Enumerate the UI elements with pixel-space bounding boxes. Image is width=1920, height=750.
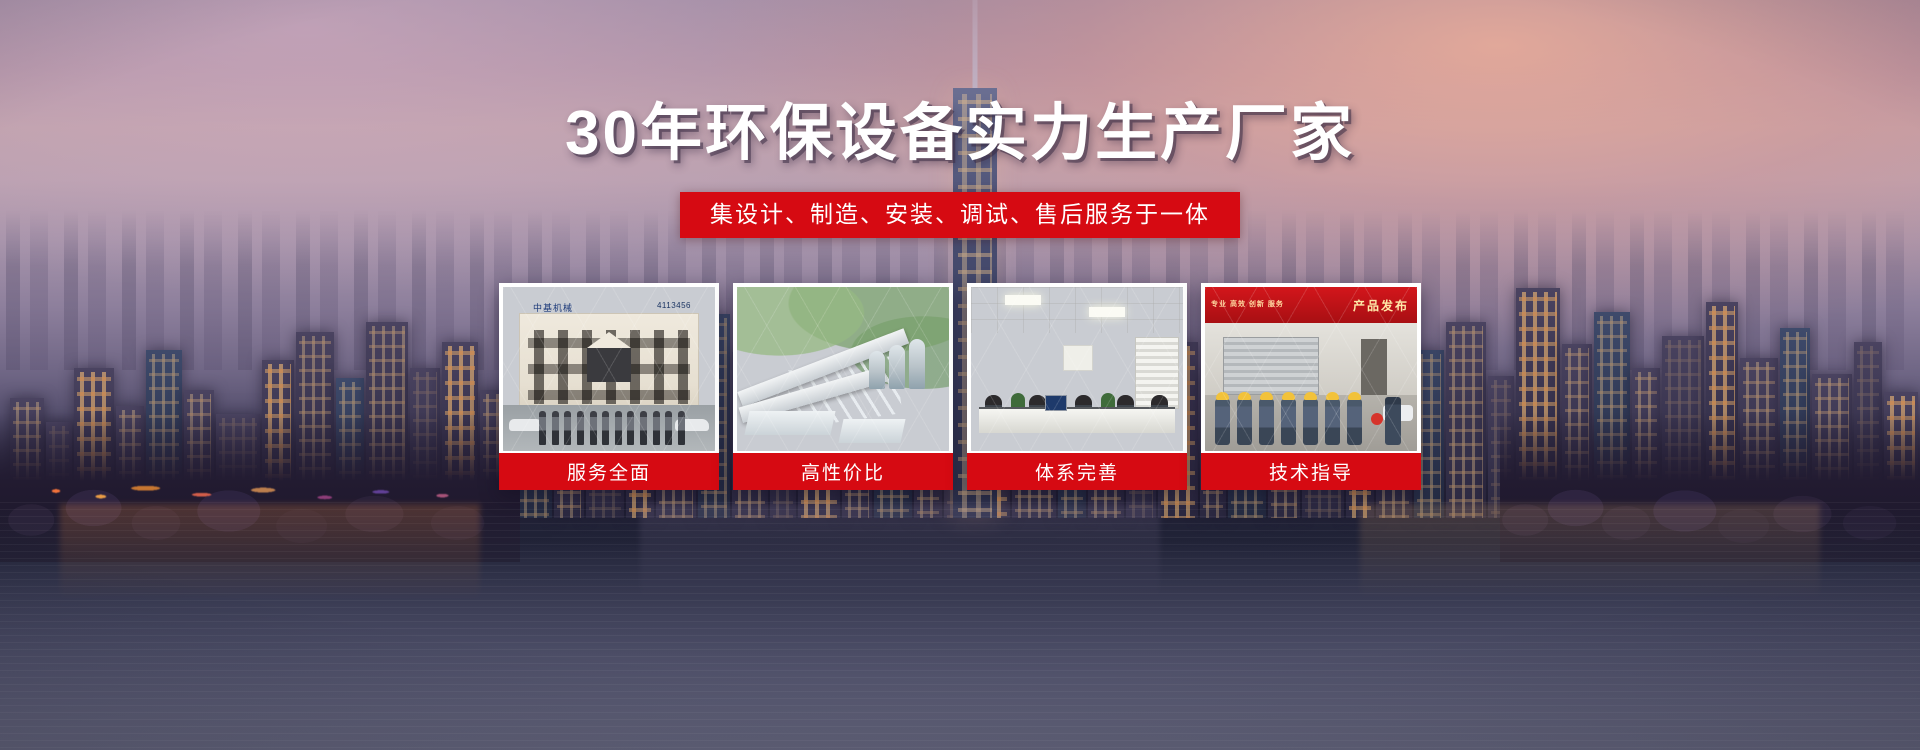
banner-subtitle-ribbon: 集设计、制造、安装、调试、售后服务于一体 <box>680 192 1240 238</box>
hero-banner: 30年环保设备实力生产厂家 集设计、制造、安装、调试、售后服务于一体 中基机械 … <box>0 0 1920 750</box>
thumb-phone-text: 4113456 <box>657 301 691 310</box>
thumb-banner-side-text: 专业 高效 创新 服务 <box>1211 301 1284 310</box>
thumb-red-banner: 专业 高效 创新 服务 产品发布 <box>1205 287 1417 323</box>
card-thumbnail-aerial-plant <box>737 287 949 451</box>
card-caption: 高性价比 <box>733 453 953 490</box>
banner-content: 30年环保设备实力生产厂家 集设计、制造、安装、调试、售后服务于一体 中基机械 … <box>0 0 1920 750</box>
card-caption: 体系完善 <box>967 453 1187 490</box>
feature-card-list: 中基机械 4113456 服务全面 <box>499 283 1421 490</box>
feature-card[interactable]: 专业 高效 创新 服务 产品发布 <box>1201 283 1421 490</box>
feature-card[interactable]: 体系完善 <box>967 283 1187 490</box>
card-thumbnail-office-building: 中基机械 4113456 <box>503 287 715 451</box>
card-caption: 服务全面 <box>499 453 719 490</box>
thumb-banner-main-text: 产品发布 <box>1353 297 1409 314</box>
feature-card[interactable]: 高性价比 <box>733 283 953 490</box>
card-thumbnail-meeting-room <box>971 287 1183 451</box>
banner-headline: 30年环保设备实力生产厂家 <box>0 101 1920 166</box>
thumb-logo-text: 中基机械 <box>533 301 573 314</box>
card-caption: 技术指导 <box>1201 453 1421 490</box>
feature-card[interactable]: 中基机械 4113456 服务全面 <box>499 283 719 490</box>
card-thumbnail-workshop: 专业 高效 创新 服务 产品发布 <box>1205 287 1417 451</box>
